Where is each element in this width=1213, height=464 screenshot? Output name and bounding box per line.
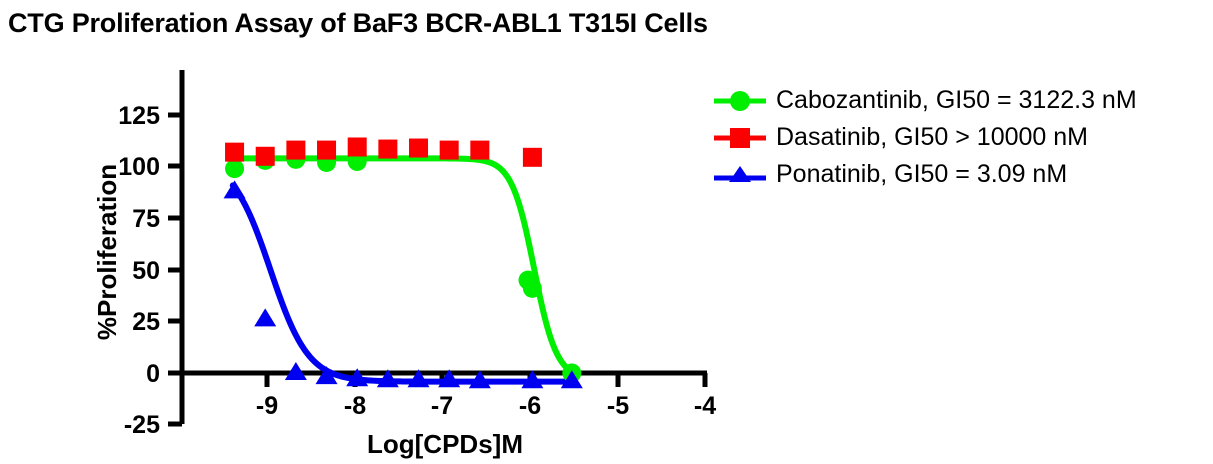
chart-figure: CTG Proliferation Assay of BaF3 BCR-ABL1… [0, 0, 1213, 464]
x-tick-labels: -9 -8 -7 -6 -5 -4 [256, 392, 716, 420]
data-point-dasatinib [286, 141, 305, 160]
y-axis-title: %Proliferation [92, 164, 122, 340]
data-point-dasatinib [225, 143, 244, 162]
legend-label: Ponatinib, GI50 = 3.09 nM [768, 160, 1067, 189]
square-marker-icon [712, 123, 768, 153]
triangle-marker-icon [712, 160, 768, 190]
legend-item-cabozantinib[interactable]: Cabozantinib, GI50 = 3122.3 nM [712, 82, 1212, 119]
legend-label: Cabozantinib, GI50 = 3122.3 nM [768, 86, 1137, 115]
x-tick-label: -5 [607, 392, 629, 420]
data-point-dasatinib [440, 141, 459, 160]
x-tick-label: -9 [256, 392, 278, 420]
chart-legend: Cabozantinib, GI50 = 3122.3 nM Dasatinib… [712, 82, 1212, 193]
y-tick-label: 25 [132, 308, 160, 336]
x-tick-label: -7 [431, 392, 453, 420]
data-point-dasatinib [470, 141, 489, 160]
data-point-ponatinib [254, 308, 276, 326]
y-tick-label: 100 [118, 153, 160, 181]
y-tick-labels: 125 100 75 50 25 0 -25 [118, 102, 160, 439]
legend-item-dasatinib[interactable]: Dasatinib, GI50 > 10000 nM [712, 119, 1212, 156]
y-tick-label: 0 [146, 360, 160, 388]
data-point-dasatinib [523, 148, 542, 167]
legend-label: Dasatinib, GI50 > 10000 nM [768, 123, 1088, 152]
plot-area: 125 100 75 50 25 0 -25 -9 -8 -7 -6 -5 -4… [0, 0, 1213, 464]
y-tick-label: 125 [118, 102, 160, 130]
data-point-ponatinib [224, 180, 246, 198]
data-point-cabozantinib [523, 279, 542, 298]
data-point-dasatinib [256, 147, 275, 166]
x-axis-title: Log[CPDs]M [367, 429, 523, 459]
data-point-dasatinib [317, 141, 336, 160]
legend-item-ponatinib[interactable]: Ponatinib, GI50 = 3.09 nM [712, 156, 1212, 193]
y-tick-label: 50 [132, 257, 160, 285]
curve-cabozantinib [233, 158, 575, 373]
circle-marker-icon [712, 86, 768, 116]
data-point-markers [224, 137, 583, 388]
x-tick-label: -6 [519, 392, 541, 420]
x-tick-label: -8 [344, 392, 366, 420]
data-point-dasatinib [378, 140, 397, 159]
y-tick-label: 75 [132, 205, 160, 233]
fitted-curves [233, 158, 575, 381]
data-point-dasatinib [409, 139, 428, 158]
data-point-cabozantinib [225, 159, 244, 178]
data-point-dasatinib [348, 137, 367, 156]
x-tick-label: -4 [694, 392, 716, 420]
y-tick-label: -25 [124, 411, 160, 439]
